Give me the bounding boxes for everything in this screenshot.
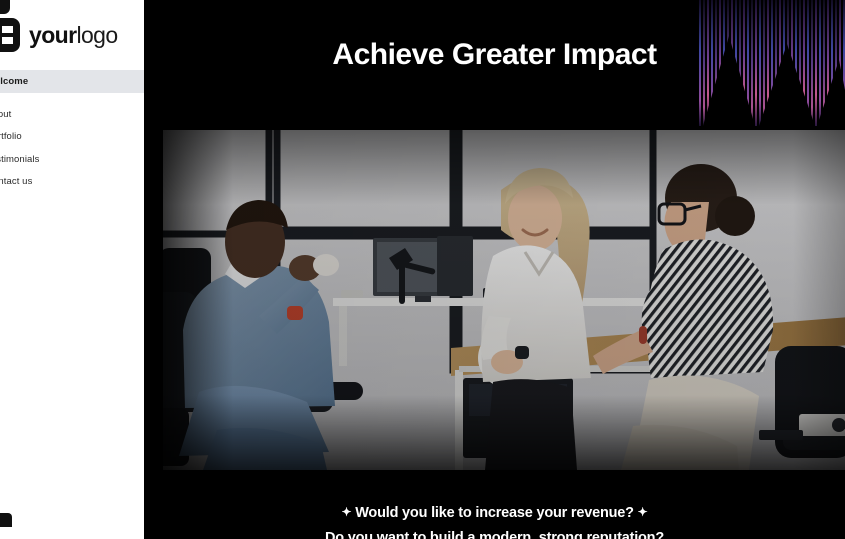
logo-bar-top-right	[2, 26, 13, 33]
sidebar-item-label: Contact us	[0, 176, 32, 187]
sidebar: yourlogo Welcome About Portfolio Testimo…	[0, 0, 144, 539]
logo-text-light: logo	[76, 22, 117, 48]
sidebar-item-about[interactable]: About	[0, 103, 144, 126]
cta-subheadline: Do you want to build a modern, strong re…	[144, 530, 845, 539]
logo-bar-bottom-right	[2, 37, 13, 44]
sidebar-item-label: Portfolio	[0, 131, 22, 142]
sidebar-item-contact-us[interactable]: Contact us	[0, 171, 144, 194]
hero-image-svg	[163, 130, 845, 470]
corner-mark-top-left-icon	[0, 0, 10, 14]
sidebar-item-portfolio[interactable]: Portfolio	[0, 126, 144, 149]
hero-image	[163, 130, 845, 470]
corner-mark-bottom-left-icon	[0, 513, 12, 527]
sidebar-item-welcome[interactable]: Welcome	[0, 70, 144, 93]
logo-text-bold: your	[29, 22, 76, 48]
sidebar-item-label: About	[0, 109, 11, 120]
cta-headline-text: Would you like to increase your revenue?	[355, 505, 634, 521]
logo-mark-icon	[0, 18, 20, 52]
sidebar-item-testimonials[interactable]: Testimonials	[0, 148, 144, 171]
sparkle-right-icon: ✦	[638, 505, 648, 519]
sidebar-item-label: Welcome	[0, 76, 28, 87]
logo-text: yourlogo	[29, 24, 118, 47]
page-title: Achieve Greater Impact	[144, 38, 845, 72]
sidebar-nav: Welcome About Portfolio Testimonials Con…	[0, 70, 144, 193]
sparkle-left-icon: ✦	[342, 505, 352, 519]
cta-text-block: ✦ Would you like to increase your revenu…	[144, 505, 845, 539]
logo[interactable]: yourlogo	[0, 18, 118, 52]
cta-headline: ✦ Would you like to increase your revenu…	[144, 505, 845, 521]
sidebar-item-label: Testimonials	[0, 154, 39, 165]
main-content: Achieve Greater Impact	[144, 0, 845, 539]
website-preview-canvas: yourlogo Welcome About Portfolio Testimo…	[0, 0, 845, 539]
